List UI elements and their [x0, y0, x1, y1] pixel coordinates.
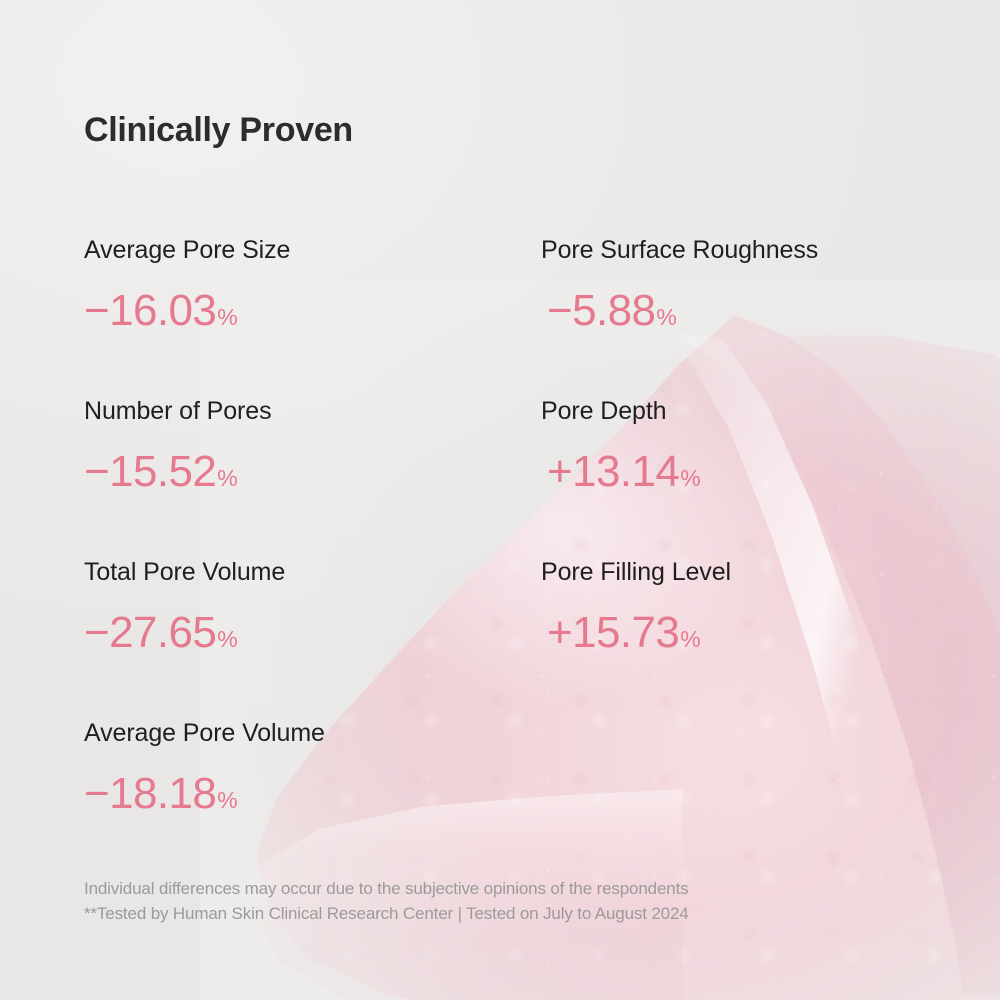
metric-number-of-pores: Number of Pores −15.52 % [84, 399, 541, 494]
content-layer: Clinically Proven Average Pore Size −16.… [0, 0, 1000, 1000]
footnote-test-source: **Tested by Human Skin Clinical Research… [84, 901, 914, 926]
metric-number: +15.73 [547, 611, 679, 655]
footnote-disclaimer: Individual differences may occur due to … [84, 876, 914, 901]
metric-label: Total Pore Volume [84, 560, 541, 585]
metric-pore-surface-roughness: Pore Surface Roughness −5.88 % [541, 238, 924, 333]
metric-label: Average Pore Size [84, 238, 541, 263]
metric-column-left: Average Pore Size −16.03 % [84, 238, 541, 399]
metric-label: Pore Surface Roughness [541, 238, 924, 263]
metric-row: Number of Pores −15.52 % Pore Depth +13.… [84, 399, 924, 560]
metric-value: −5.88 % [541, 289, 924, 333]
metric-number: +13.14 [547, 450, 679, 494]
metric-number: −5.88 [547, 289, 655, 333]
metric-row: Average Pore Volume −18.18 % [84, 721, 924, 882]
metric-number: −27.65 [84, 611, 216, 655]
metric-value: +15.73 % [541, 611, 924, 655]
metric-unit: % [217, 306, 237, 329]
metric-unit: % [217, 628, 237, 651]
metric-total-pore-volume: Total Pore Volume −27.65 % [84, 560, 541, 655]
metric-value: −27.65 % [84, 611, 541, 655]
metric-label: Number of Pores [84, 399, 541, 424]
page-title: Clinically Proven [84, 111, 353, 150]
metric-pore-depth: Pore Depth +13.14 % [541, 399, 924, 494]
metric-column-right: Pore Depth +13.14 % [541, 399, 924, 560]
metrics-grid: Average Pore Size −16.03 % Pore Surface … [84, 238, 924, 882]
metric-column-right-empty [541, 721, 924, 882]
metric-column-right: Pore Filling Level +15.73 % [541, 560, 924, 721]
metric-number: −16.03 [84, 289, 216, 333]
metric-number: −15.52 [84, 450, 216, 494]
metric-label: Average Pore Volume [84, 721, 541, 746]
metric-label: Pore Filling Level [541, 560, 924, 585]
metric-label: Pore Depth [541, 399, 924, 424]
metric-column-left: Total Pore Volume −27.65 % [84, 560, 541, 721]
metric-pore-filling-level: Pore Filling Level +15.73 % [541, 560, 924, 655]
metric-average-pore-size: Average Pore Size −16.03 % [84, 238, 541, 333]
metric-value: −18.18 % [84, 772, 541, 816]
clinical-results-page: Clinically Proven Average Pore Size −16.… [0, 0, 1000, 1000]
metric-unit: % [217, 467, 237, 490]
metric-column-right: Pore Surface Roughness −5.88 % [541, 238, 924, 399]
metric-unit: % [680, 628, 700, 651]
metric-average-pore-volume: Average Pore Volume −18.18 % [84, 721, 541, 816]
metric-row: Total Pore Volume −27.65 % Pore Filling … [84, 560, 924, 721]
metric-unit: % [656, 306, 676, 329]
metric-row: Average Pore Size −16.03 % Pore Surface … [84, 238, 924, 399]
metric-value: −16.03 % [84, 289, 541, 333]
footnotes: Individual differences may occur due to … [84, 876, 914, 926]
metric-column-left: Average Pore Volume −18.18 % [84, 721, 541, 882]
metric-value: −15.52 % [84, 450, 541, 494]
metric-unit: % [680, 467, 700, 490]
metric-column-left: Number of Pores −15.52 % [84, 399, 541, 560]
metric-number: −18.18 [84, 772, 216, 816]
metric-unit: % [217, 789, 237, 812]
metric-value: +13.14 % [541, 450, 924, 494]
